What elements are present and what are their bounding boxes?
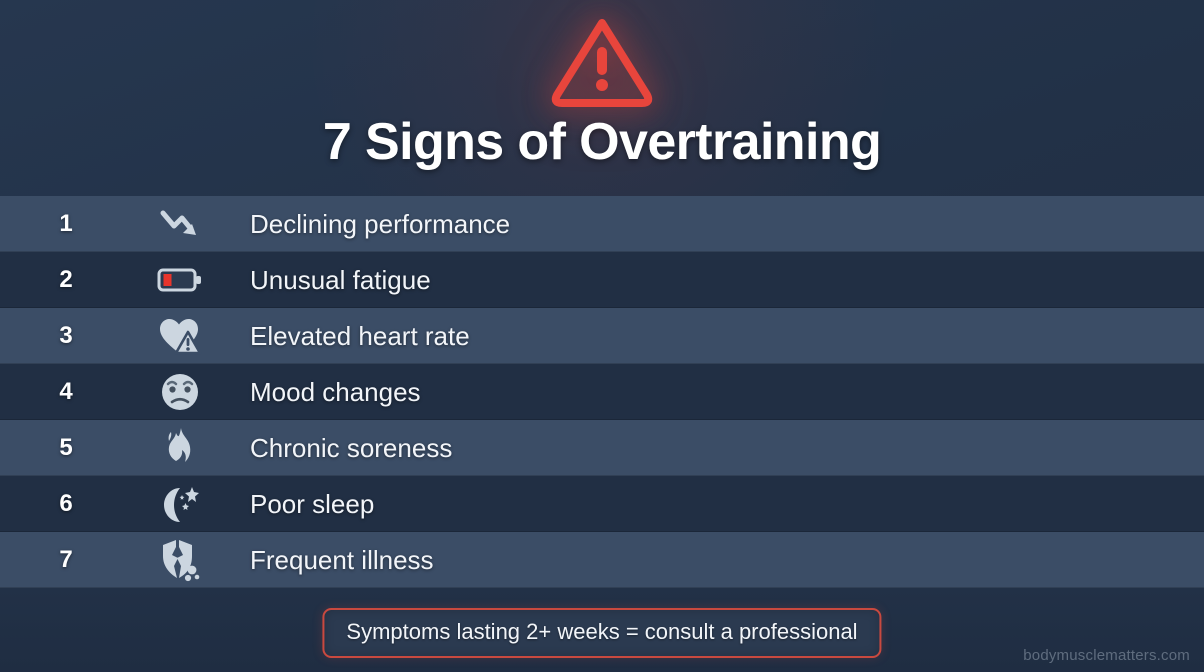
list-item-label: Frequent illness <box>228 545 1204 576</box>
list-item-number: 7 <box>0 546 132 574</box>
low-battery-icon <box>132 266 228 294</box>
list-item-number: 3 <box>0 322 132 350</box>
broken-shield-icon <box>132 537 228 583</box>
list-item-number: 1 <box>0 210 132 238</box>
signs-list: 1 Declining performance 2 Unusual fatigu… <box>0 196 1204 588</box>
worried-face-icon <box>132 371 228 413</box>
crescent-moon-stars-icon <box>132 483 228 525</box>
list-item-number: 6 <box>0 490 132 518</box>
heart-warning-icon <box>132 315 228 357</box>
footer: Symptoms lasting 2+ weeks = consult a pr… <box>0 588 1204 672</box>
list-item-label: Declining performance <box>228 209 1204 240</box>
list-item-label: Chronic soreness <box>228 433 1204 464</box>
list-item-number: 5 <box>0 434 132 462</box>
warning-triangle-icon <box>0 14 1204 108</box>
list-item-label: Poor sleep <box>228 489 1204 520</box>
chart-decreasing-icon <box>132 204 228 244</box>
list-item-number: 2 <box>0 266 132 294</box>
list-item: 1 Declining performance <box>0 196 1204 252</box>
list-item: 6 Poor sleep <box>0 476 1204 532</box>
site-watermark: bodymusclematters.com <box>1023 647 1190 664</box>
list-item-label: Mood changes <box>228 377 1204 408</box>
list-item: 5 Chronic soreness <box>0 420 1204 476</box>
advice-callout: Symptoms lasting 2+ weeks = consult a pr… <box>322 608 881 658</box>
header: 7 Signs of Overtraining <box>0 0 1204 196</box>
list-item-label: Elevated heart rate <box>228 321 1204 352</box>
page-title: 7 Signs of Overtraining <box>0 112 1204 172</box>
flame-icon <box>132 426 228 470</box>
list-item: 2 Unusual fatigue <box>0 252 1204 308</box>
list-item: 7 Frequent illness <box>0 532 1204 588</box>
list-item: 4 Mood changes <box>0 364 1204 420</box>
list-item: 3 Elevated heart rate <box>0 308 1204 364</box>
infographic-poster: 7 Signs of Overtraining 1 Declining perf… <box>0 0 1204 672</box>
list-item-number: 4 <box>0 378 132 406</box>
list-item-label: Unusual fatigue <box>228 265 1204 296</box>
